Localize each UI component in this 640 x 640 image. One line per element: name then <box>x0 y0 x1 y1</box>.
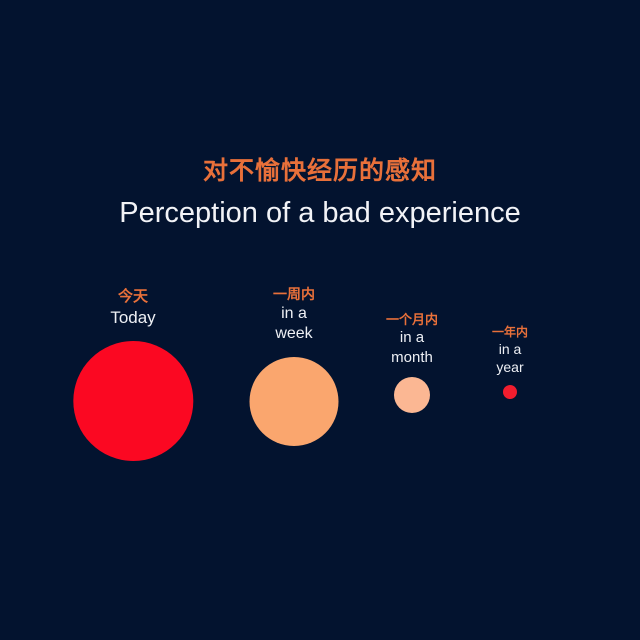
bubble-label-cn-today: 今天 <box>110 288 155 307</box>
bubble-label-en-week-line1: in a <box>273 304 315 325</box>
bubble-label-en-month-line1: in a <box>386 328 438 348</box>
bubble-label-cn-week: 一周内 <box>273 286 315 304</box>
bubble-label-cn-month: 一个月内 <box>386 312 438 328</box>
infographic-canvas: 对不愉快经历的感知 Perception of a bad experience… <box>0 0 640 640</box>
bubble-label-en-week-line2: week <box>273 324 315 345</box>
bubble-label-en-today: Today <box>110 307 155 329</box>
bubble-group-month: 一个月内 in a month <box>386 312 438 367</box>
bubble-label-en-year-line2: year <box>492 358 528 376</box>
bubble-chart: 今天 Today 一周内 in a week 一个月内 in a month 一… <box>0 0 640 640</box>
bubble-circle-week <box>250 357 339 446</box>
bubble-label-en-year-line1: in a <box>492 340 528 358</box>
bubble-circle-today <box>73 341 193 461</box>
bubble-circle-month <box>394 377 430 413</box>
bubble-circle-year <box>503 385 517 399</box>
bubble-group-week: 一周内 in a week <box>273 286 315 345</box>
bubble-group-today: 今天 Today <box>110 288 155 329</box>
bubble-label-cn-year: 一年内 <box>492 325 528 340</box>
bubble-group-year: 一年内 in a year <box>492 325 528 376</box>
bubble-label-en-month-line2: month <box>386 348 438 368</box>
